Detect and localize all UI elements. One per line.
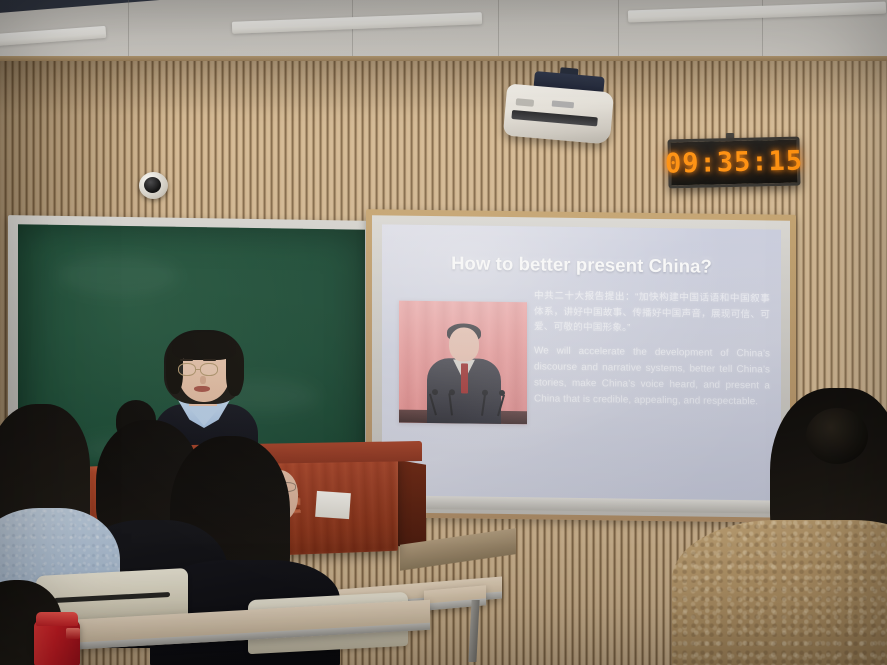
student-hair-bun — [806, 408, 868, 464]
podium-side — [396, 460, 426, 551]
glasses-icon — [200, 363, 218, 376]
ceiling-light-panel — [0, 26, 106, 46]
ceiling-seam — [128, 0, 129, 62]
camera-lens — [144, 177, 161, 193]
presenter-mouth — [194, 386, 210, 392]
projector-lens-strip — [511, 110, 597, 126]
thermos-button — [66, 628, 80, 639]
wall-shading — [0, 56, 887, 116]
wall-clock: 09:35:15 — [667, 137, 800, 189]
ceiling-seam — [498, 0, 499, 62]
ceiling-seam — [352, 0, 353, 62]
fleece-texture — [672, 520, 887, 665]
thermos-cap — [36, 612, 78, 626]
presenter-nose — [200, 376, 206, 384]
projection-screen: How to better present China? 中共二十大报告提出：“… — [382, 224, 781, 506]
presenter-eyebrow — [180, 359, 193, 361]
glasses-bridge — [196, 369, 201, 370]
slide-chinese-text: 中共二十大报告提出：“加快构建中国话语和中国叙事体系，讲好中国故事、传播好中国声… — [534, 288, 770, 338]
projector-icon — [503, 83, 614, 144]
ceiling-light-panel — [628, 2, 886, 23]
ceiling — [0, 0, 887, 62]
slide-photo — [399, 301, 527, 425]
slide-title: How to better present China? — [382, 251, 781, 278]
photo-microphone-head — [432, 389, 438, 395]
ceiling-light-panel — [232, 12, 482, 34]
photo-speaker-head — [449, 327, 479, 361]
chair-handle-slot — [54, 592, 170, 603]
slide-text-column: 中共二十大报告提出：“加快构建中国话语和中国叙事体系，讲好中国故事、传播好中国声… — [534, 288, 770, 410]
presenter-eyebrow — [203, 359, 216, 361]
thermos-bottle — [34, 620, 80, 665]
projector-brand-badge — [552, 100, 574, 108]
projector-vent — [516, 98, 535, 107]
wall-top-trim — [0, 56, 887, 61]
clock-time-display: 09:35:15 — [665, 145, 804, 179]
slide-english-text: We will accelerate the development of Ch… — [534, 343, 770, 411]
photo-microphone-head — [482, 390, 488, 396]
glasses-icon — [178, 363, 196, 376]
photo-microphone-head — [499, 390, 505, 396]
photo-microphone-head — [449, 389, 455, 395]
podium-papers — [315, 491, 351, 519]
student-teddy-fleece — [672, 520, 887, 665]
presenter-fringe — [172, 332, 236, 360]
photo-speaker-tie — [461, 363, 468, 393]
ceiling-seam — [618, 0, 619, 62]
classroom-scene: 09:35:15 How to better present China? — [0, 0, 887, 665]
dome-camera-icon — [139, 172, 168, 199]
